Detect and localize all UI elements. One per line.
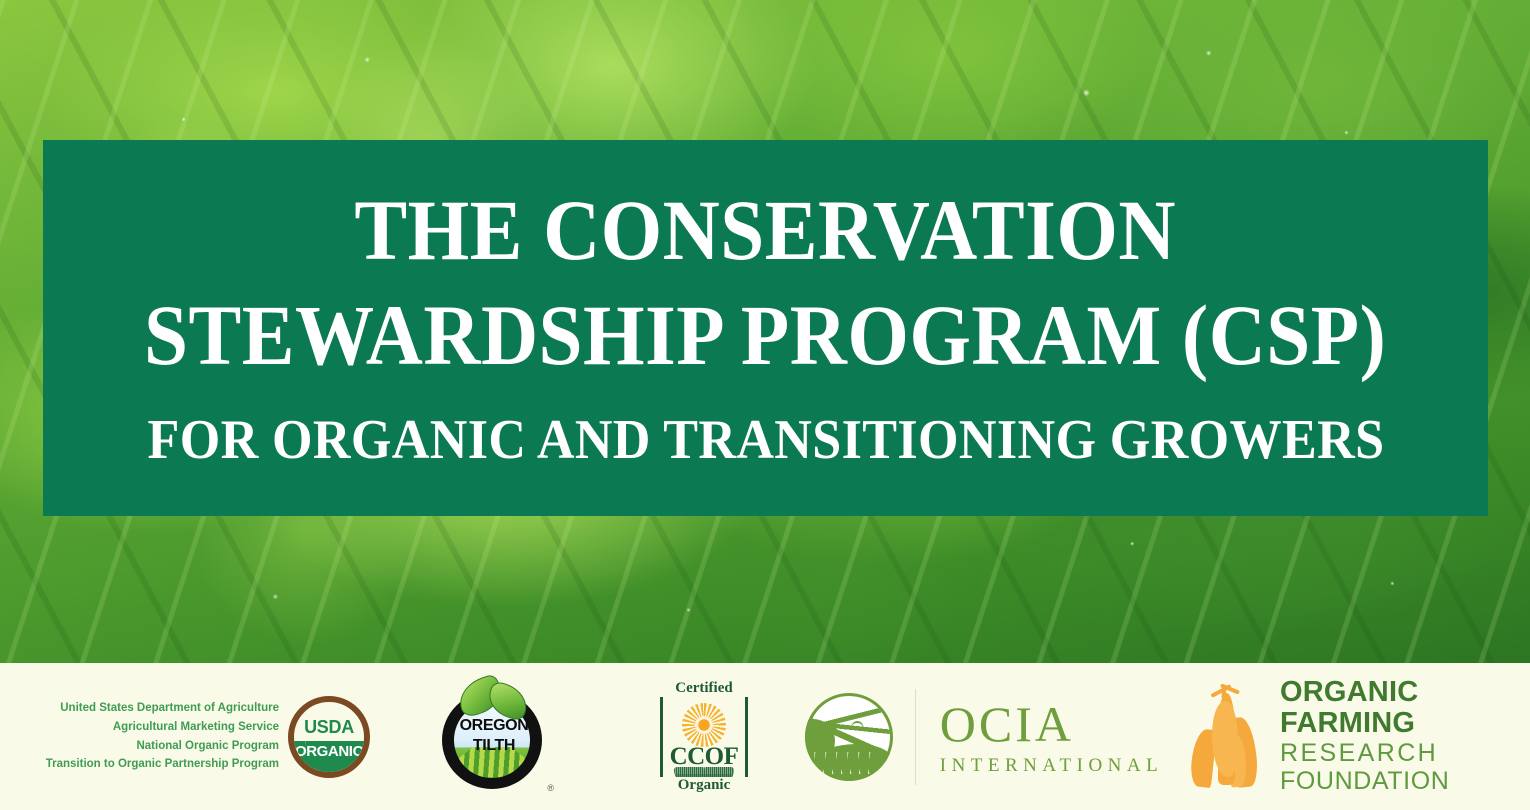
logo-usda-organic: United States Department of Agriculture … <box>0 696 384 778</box>
ccof-top-label: Certified <box>652 680 756 697</box>
page-subtitle: FOR ORGANIC AND TRANSITIONING GROWERS <box>147 410 1384 472</box>
ofrf-line-1: ORGANIC <box>1280 677 1449 708</box>
tilth-word-tilth: TILTH <box>432 737 556 755</box>
logo-ocia-international: OCIA INTERNATIONAL <box>804 689 1164 785</box>
ocia-name: OCIA <box>940 699 1163 749</box>
ccof-mark-icon: Certified CCOF Organic <box>652 677 756 797</box>
usda-line-4: Transition to Organic Partnership Progra… <box>46 755 279 774</box>
usda-agency-text: United States Department of Agriculture … <box>46 699 279 774</box>
logo-ccof: Certified CCOF Organic <box>604 677 804 797</box>
tilth-word-oregon: OREGON <box>432 717 556 735</box>
ocia-wordmark: OCIA INTERNATIONAL <box>940 699 1163 775</box>
oregon-tilth-mark-icon: OREGON TILTH ® <box>432 677 556 797</box>
ofrf-ear <box>1210 700 1240 777</box>
ofrf-line-4: FOUNDATION <box>1280 767 1449 796</box>
usda-line-1: United States Department of Agriculture <box>46 699 279 718</box>
logo-oregon-tilth: OREGON TILTH ® <box>384 677 604 797</box>
poster-canvas: THE CONSERVATION STEWARDSHIP PROGRAM (CS… <box>0 0 1530 810</box>
ocia-divider <box>915 689 916 785</box>
title-banner: THE CONSERVATION STEWARDSHIP PROGRAM (CS… <box>43 140 1488 516</box>
ofrf-line-2: FARMING <box>1280 708 1449 739</box>
ofrf-line-3: RESEARCH <box>1280 739 1449 768</box>
ocia-landscape-emblem-icon <box>805 693 893 781</box>
logo-ofrf: ORGANIC FARMING RESEARCH FOUNDATION <box>1164 677 1486 795</box>
title-line-2: STEWARDSHIP PROGRAM (CSP) <box>144 283 1386 388</box>
page-title: THE CONSERVATION STEWARDSHIP PROGRAM (CS… <box>144 178 1386 388</box>
ccof-sunflower-icon <box>682 703 726 747</box>
usda-seal-top-label: USDA <box>294 717 364 738</box>
ocia-subtitle: INTERNATIONAL <box>940 756 1163 775</box>
usda-line-2: Agricultural Marketing Service <box>46 718 279 737</box>
usda-organic-seal-icon: USDA ORGANIC <box>288 696 370 778</box>
ccof-bottom-label: Organic <box>652 777 756 794</box>
tilth-registered-mark: ® <box>547 783 554 793</box>
title-line-1: THE CONSERVATION <box>355 182 1177 278</box>
ofrf-wordmark: ORGANIC FARMING RESEARCH FOUNDATION <box>1280 677 1449 795</box>
usda-line-3: National Organic Program <box>46 737 279 756</box>
partner-logo-bar: United States Department of Agriculture … <box>0 663 1530 810</box>
usda-seal-bottom-label: ORGANIC <box>294 743 364 760</box>
ofrf-corn-stalk-icon <box>1186 685 1266 789</box>
